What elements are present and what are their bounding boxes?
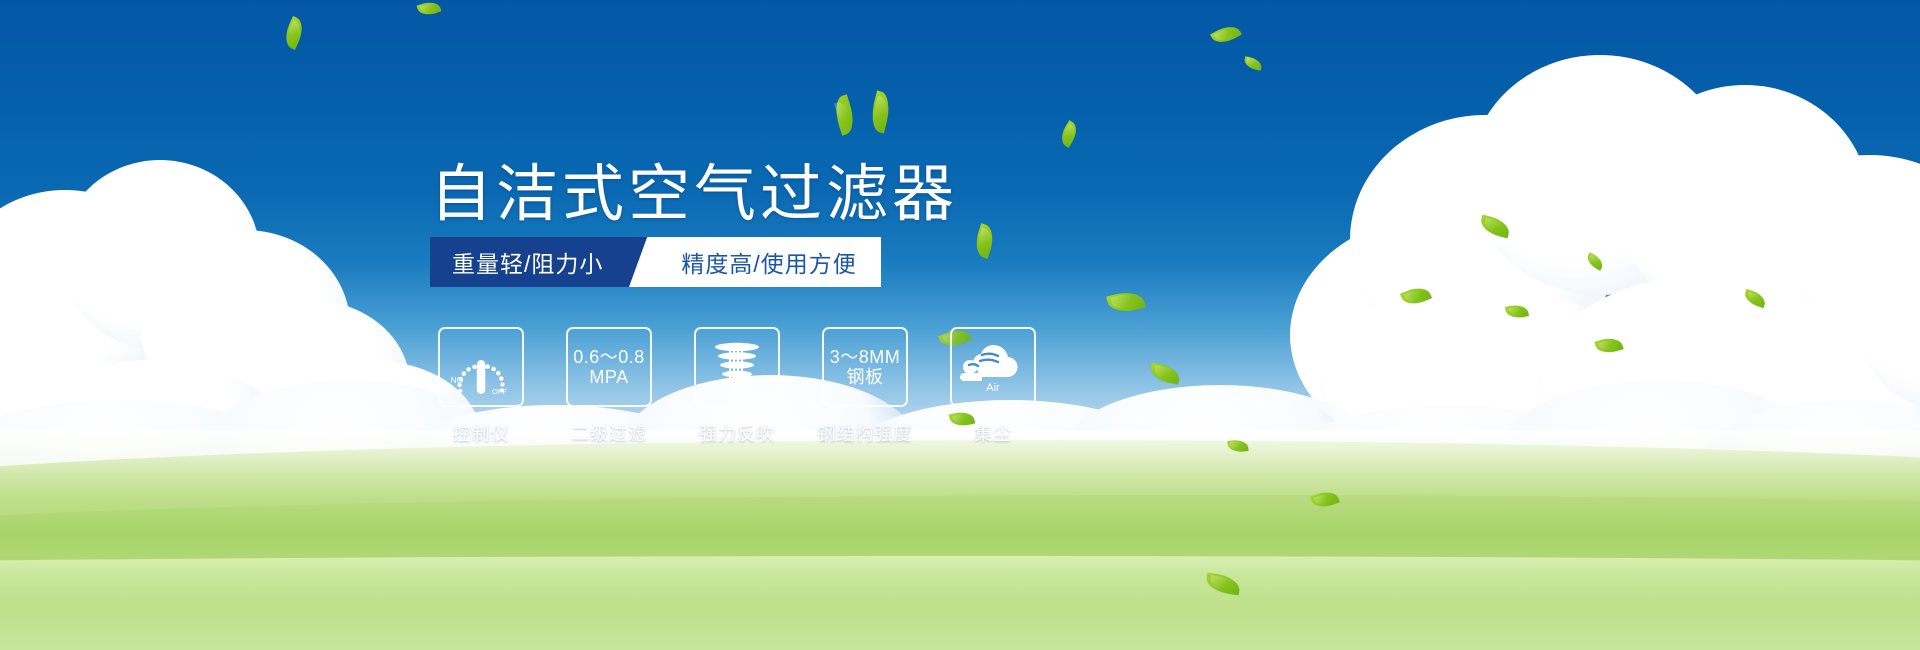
feature-item-steel[interactable]: 3～8MM 钢板 钢结构强度 [822,327,908,446]
gauge-off-label: OFF [492,387,507,395]
gauge-icon: NO OFF [448,339,514,395]
page-title: 自洁式空气过滤器 [430,164,958,226]
air-label: Air [986,382,1000,393]
feature-label: 集尘 [974,420,1012,446]
feature-unit: 钢板 [847,367,884,387]
feature-icon-box: 0.6～0.8 MPA [566,327,652,407]
feature-icon-box [694,327,780,407]
feature-label: 控制仪 [453,420,510,446]
sprout-leaf-right [867,91,893,134]
feature-icon-box: Air [950,327,1036,407]
tagline-primary: 重量轻/阻力小 [430,237,629,287]
cloud-air-icon: Air [960,341,1026,393]
feature-item-dustcollect[interactable]: Air 集尘 [950,327,1036,446]
tagline-group: 重量轻/阻力小 精度高/使用方便 [430,237,881,287]
feature-label: 强力反吹 [699,420,775,446]
feature-value: 3～8MM [830,347,901,367]
filter-stack-icon [708,338,766,396]
gauge-on-label: NO [451,375,464,385]
product-hero-banner: 自洁式空气过滤器 重量轻/阻力小 精度高/使用方便 [0,0,1920,650]
feature-label: 二级过滤 [571,420,647,446]
feature-value: 0.6～0.8 [573,347,645,367]
feature-label: 钢结构强度 [818,420,913,446]
tagline-divider [629,237,663,287]
feature-item-controller[interactable]: NO OFF 控制仪 [438,327,524,446]
banner-content: 自洁式空气过滤器 重量轻/阻力小 精度高/使用方便 [0,0,1920,650]
feature-unit: MPA [589,367,628,387]
feature-badge-list: NO OFF 控制仪 0.6～0.8 MPA 二级过滤 [438,327,1036,446]
feature-item-backblow[interactable]: 强力反吹 [694,327,780,446]
feature-item-pressure[interactable]: 0.6～0.8 MPA 二级过滤 [566,327,652,446]
feature-icon-box: NO OFF [438,327,524,407]
sprout-leaf-left [831,94,859,135]
tagline-secondary: 精度高/使用方便 [663,237,880,287]
feature-icon-box: 3～8MM 钢板 [822,327,908,407]
